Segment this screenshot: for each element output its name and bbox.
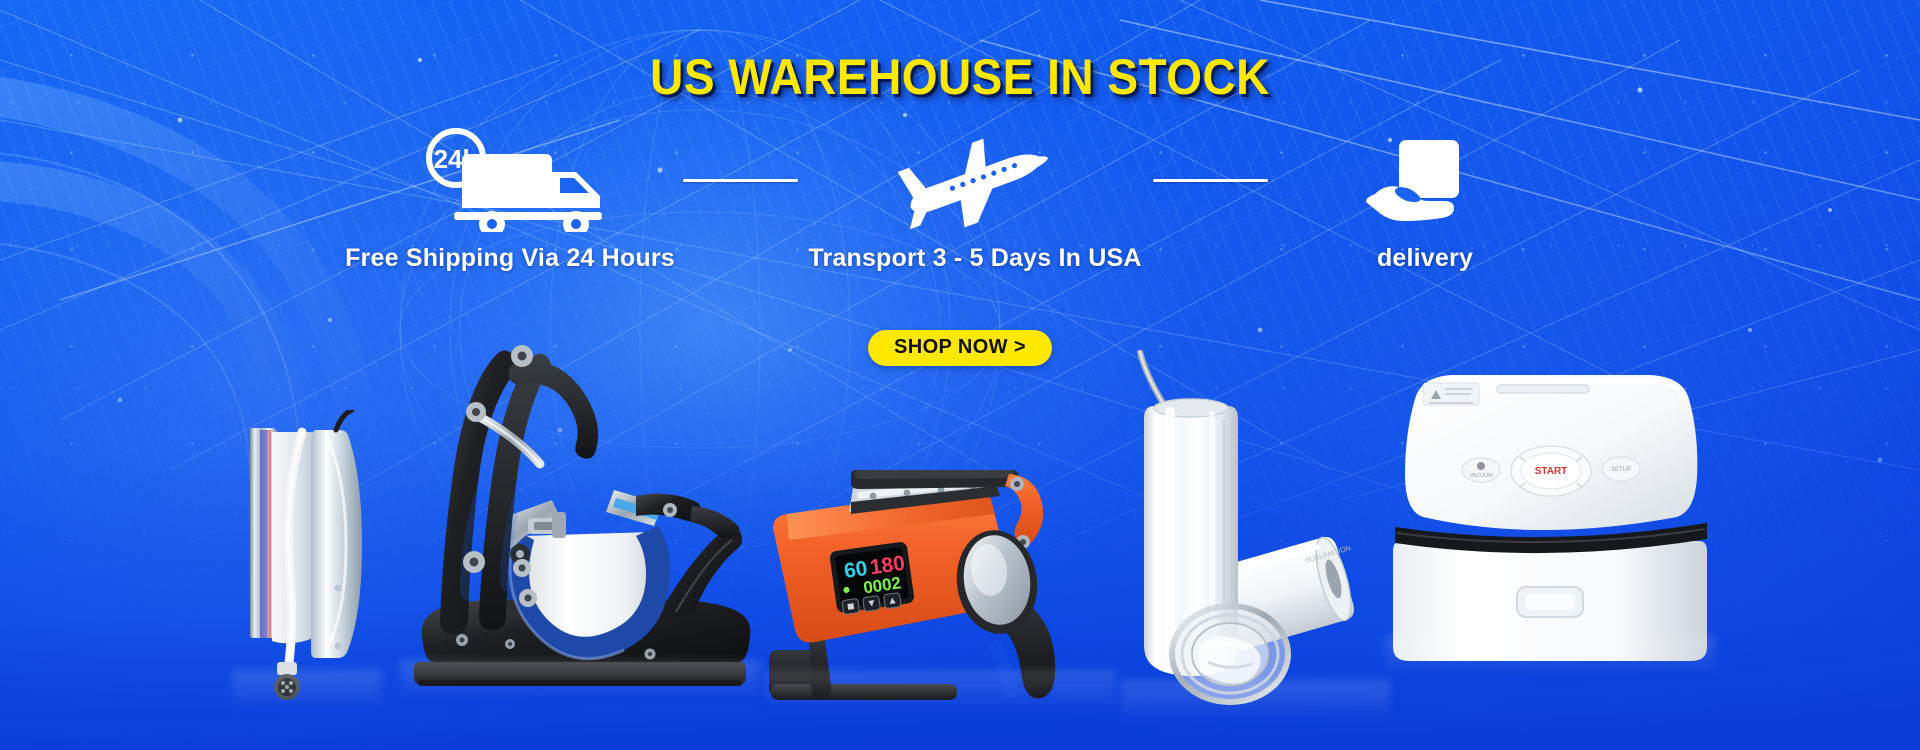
feature-row: 24h Free Shipping Via 24 Hours (0, 128, 1920, 273)
background-bottom-glow (0, 450, 1920, 750)
airplane-icon (805, 128, 1145, 232)
delivery-truck-icon: 24h (345, 128, 675, 232)
promo-banner: US WAREHOUSE IN STOCK (0, 0, 1920, 750)
feature-caption: delivery (1275, 244, 1575, 273)
feature-caption: Free Shipping Via 24 Hours (345, 244, 675, 273)
page-title: US WAREHOUSE IN STOCK (77, 48, 1843, 106)
feature-air-transport: Transport 3 - 5 Days In USA (805, 128, 1145, 273)
feature-caption: Transport 3 - 5 Days In USA (805, 244, 1145, 273)
hand-holding-package-icon (1275, 128, 1575, 232)
feature-delivery: delivery (1275, 128, 1575, 273)
feature-free-shipping: 24h Free Shipping Via 24 Hours (345, 128, 675, 273)
truck-badge-label: 24h (434, 144, 479, 174)
feature-divider-1 (675, 128, 805, 232)
feature-divider-2 (1145, 128, 1275, 232)
shop-now-button[interactable]: SHOP NOW > (868, 330, 1052, 366)
